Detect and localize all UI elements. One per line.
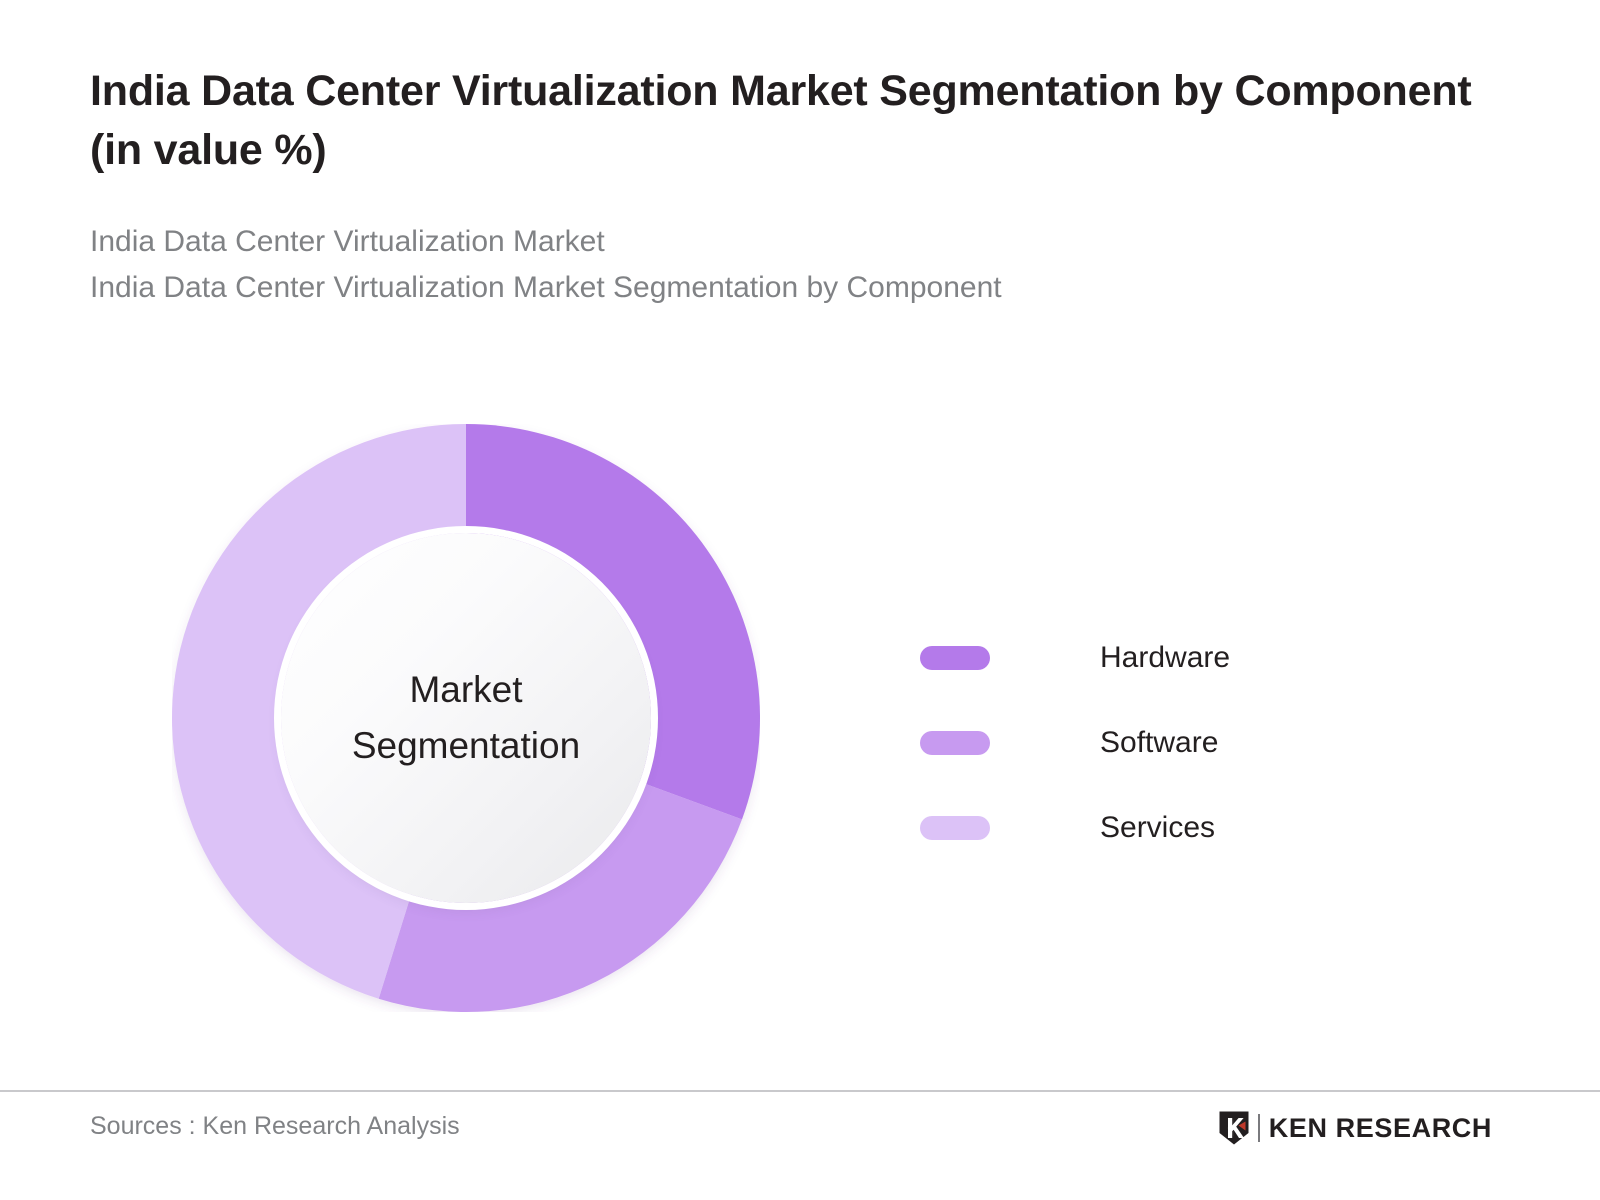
header: India Data Center Virtualization Market … <box>90 62 1490 312</box>
brand-divider-icon <box>1258 1114 1260 1142</box>
donut-center-hub: Market Segmentation <box>281 533 651 903</box>
donut-center-label: Market Segmentation <box>338 662 594 774</box>
chart-legend: Hardware Software Services <box>920 615 1230 870</box>
legend-swatch-icon-services <box>920 816 990 840</box>
legend-label-services: Services <box>1100 811 1215 845</box>
legend-label-software: Software <box>1100 726 1218 760</box>
footer-divider <box>0 1090 1600 1092</box>
page-title: India Data Center Virtualization Market … <box>90 62 1480 181</box>
subtitle-line-2: India Data Center Virtualization Market … <box>90 265 1490 312</box>
donut-chart: Market Segmentation <box>172 424 760 1012</box>
legend-label-hardware: Hardware <box>1100 641 1230 675</box>
legend-swatch-icon-software <box>920 731 990 755</box>
brand-logo: KEN RESEARCH <box>1218 1109 1492 1147</box>
legend-item-hardware[interactable]: Hardware <box>920 615 1230 700</box>
legend-item-software[interactable]: Software <box>920 700 1230 785</box>
chart-page: India Data Center Virtualization Market … <box>0 0 1600 1200</box>
chart-area: Market Segmentation Hardware Software Se… <box>0 395 1600 1055</box>
ken-research-shield-k-icon <box>1218 1110 1250 1146</box>
subtitle-block: India Data Center Virtualization Market … <box>90 219 1490 313</box>
source-note: Sources : Ken Research Analysis <box>90 1112 460 1141</box>
brand-name: KEN RESEARCH <box>1269 1113 1492 1144</box>
legend-item-services[interactable]: Services <box>920 785 1230 870</box>
subtitle-line-1: India Data Center Virtualization Market <box>90 219 1490 266</box>
legend-swatch-icon-hardware <box>920 646 990 670</box>
